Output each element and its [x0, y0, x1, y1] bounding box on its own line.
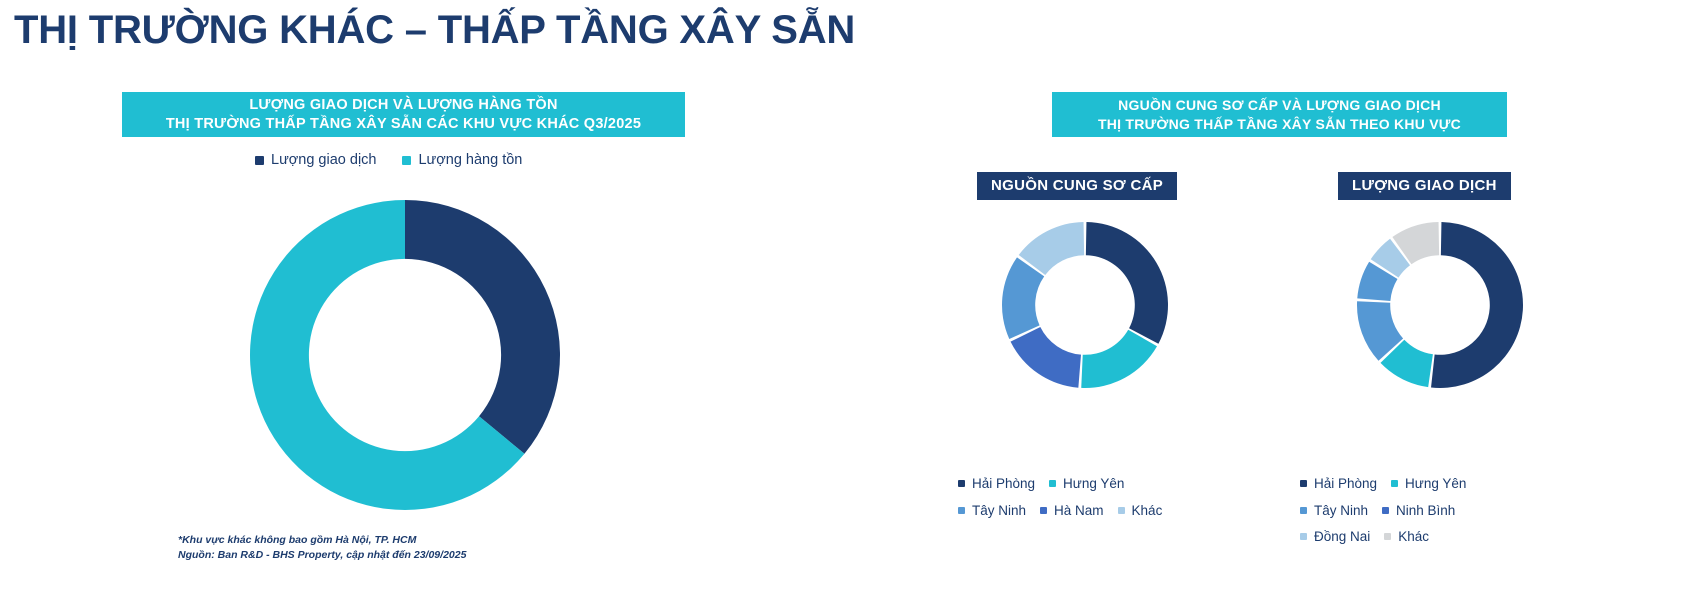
donut-slice [405, 200, 560, 454]
legend-item: Hà Nam [1040, 504, 1104, 518]
legend-swatch-icon [1118, 507, 1125, 514]
left-chart-banner: LƯỢNG GIAO DỊCH VÀ LƯỢNG HÀNG TỒN THỊ TR… [122, 92, 685, 137]
legend-swatch-icon [1040, 507, 1047, 514]
legend-swatch-icon [958, 480, 965, 487]
right-chart-banner: NGUỒN CUNG SƠ CẤP VÀ LƯỢNG GIAO DỊCH THỊ… [1052, 92, 1507, 137]
legend-label: Lượng giao dịch [271, 152, 376, 168]
legend-swatch-icon [1391, 480, 1398, 487]
donut-chart-left [250, 200, 560, 510]
legend-item: Hưng Yên [1391, 477, 1466, 491]
legend-label: Ninh Bình [1396, 504, 1455, 518]
legend-item: Khác [1118, 504, 1163, 518]
legend-label: Hưng Yên [1063, 477, 1124, 491]
legend-item: Ninh Bình [1382, 504, 1455, 518]
legend-label: Tây Ninh [1314, 504, 1368, 518]
legend-swatch-icon [1300, 480, 1307, 487]
transactions-chart-legend: Hải PhòngHưng YênTây NinhNinh BìnhĐồng N… [1300, 477, 1550, 557]
legend-label: Lượng hàng tồn [418, 152, 522, 168]
donut-slice [1011, 327, 1081, 388]
legend-label: Đồng Nai [1314, 530, 1370, 544]
donut-chart-transactions-svg [1357, 222, 1523, 388]
donut-chart-left-svg [250, 200, 560, 510]
legend-swatch-icon [1384, 533, 1391, 540]
legend-item: Đồng Nai [1300, 530, 1370, 544]
legend-item: Tây Ninh [958, 504, 1026, 518]
footnote-line2: Nguồn: Ban R&D - BHS Property, cập nhật … [178, 548, 466, 563]
donut-chart-supply-svg [1002, 222, 1168, 388]
donut-chart-supply [1002, 222, 1168, 388]
donut-slice [1002, 257, 1044, 339]
supply-chart-legend: Hải PhòngHưng YênTây NinhHà NamKhác [958, 477, 1218, 530]
right-banner-line2: THỊ TRƯỜNG THẤP TẦNG XÂY SẴN THEO KHU VỰ… [1052, 115, 1507, 133]
legend-swatch-icon [1049, 480, 1056, 487]
supply-chart-label: NGUỒN CUNG SƠ CẤP [977, 172, 1177, 200]
legend-item: Tây Ninh [1300, 504, 1368, 518]
legend-swatch-icon [958, 507, 965, 514]
left-chart-panel: LƯỢNG GIAO DỊCH VÀ LƯỢNG HÀNG TỒN THỊ TR… [0, 0, 840, 613]
legend-swatch-icon [1382, 507, 1389, 514]
legend-item: Hưng Yên [1049, 477, 1124, 491]
legend-label: Tây Ninh [972, 504, 1026, 518]
legend-label: Hưng Yên [1405, 477, 1466, 491]
right-banner-line1: NGUỒN CUNG SƠ CẤP VÀ LƯỢNG GIAO DỊCH [1052, 96, 1507, 114]
transactions-chart-label: LƯỢNG GIAO DỊCH [1338, 172, 1511, 200]
donut-chart-transactions [1357, 222, 1523, 388]
legend-swatch-icon [402, 156, 411, 165]
left-chart-legend: Lượng giao dịch Lượng hàng tồn [255, 152, 522, 168]
left-banner-line2: THỊ TRƯỜNG THẤP TẦNG XÂY SẴN CÁC KHU VỰC… [122, 115, 685, 134]
legend-item: Lượng giao dịch [255, 152, 376, 168]
legend-label: Khác [1132, 504, 1163, 518]
legend-item: Hải Phòng [958, 477, 1035, 491]
left-banner-line1: LƯỢNG GIAO DỊCH VÀ LƯỢNG HÀNG TỒN [122, 96, 685, 115]
legend-label: Hải Phòng [1314, 477, 1377, 491]
footnote: *Khu vực khác không bao gồm Hà Nội, TP. … [178, 533, 466, 563]
legend-swatch-icon [1300, 507, 1307, 514]
donut-slice [1081, 330, 1157, 388]
donut-slice [1086, 222, 1168, 344]
legend-item: Hải Phòng [1300, 477, 1377, 491]
slide-canvas: THỊ TRƯỜNG KHÁC – THẤP TẦNG XÂY SẴN LƯỢN… [0, 0, 1682, 613]
legend-label: Hải Phòng [972, 477, 1035, 491]
legend-swatch-icon [1300, 533, 1307, 540]
legend-label: Hà Nam [1054, 504, 1104, 518]
donut-slice [1431, 222, 1523, 388]
legend-item: Lượng hàng tồn [402, 152, 522, 168]
legend-label: Khác [1398, 530, 1429, 544]
legend-item: Khác [1384, 530, 1429, 544]
legend-swatch-icon [255, 156, 264, 165]
footnote-line1: *Khu vực khác không bao gồm Hà Nội, TP. … [178, 533, 466, 548]
